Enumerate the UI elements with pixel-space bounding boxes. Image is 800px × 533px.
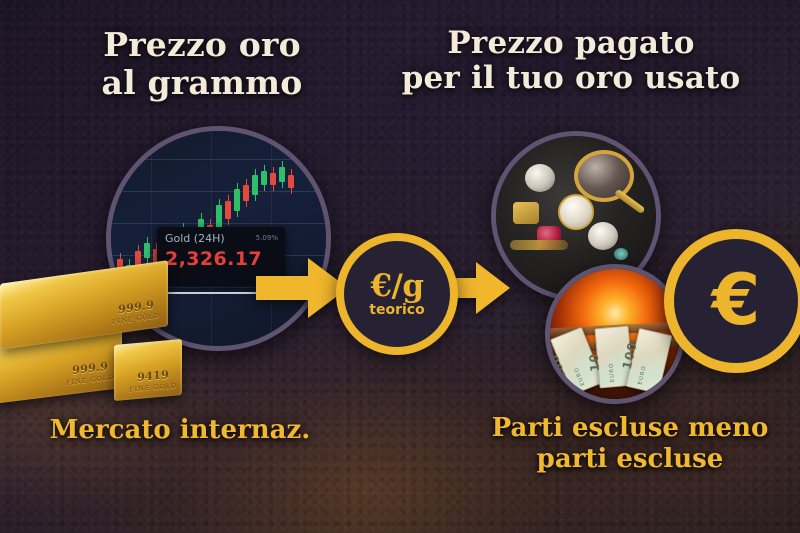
candlestick-up <box>216 205 222 229</box>
banknote-currency: EURO <box>638 365 648 386</box>
gold-hexagon-charm <box>513 202 539 224</box>
theoretical-price-symbol: €/g <box>370 271 423 302</box>
euro-symbol: € <box>712 272 761 329</box>
heading-right-line1: Prezzo pagato <box>447 25 694 61</box>
chart-gridline <box>111 191 326 192</box>
candlestick-wick <box>273 167 274 191</box>
theoretical-price-sublabel: teorico <box>369 303 424 317</box>
gold-bars-photo: 999.9 FINE GOLD 9419 FINE GOLD 999.9 FIN… <box>0 262 192 410</box>
theoretical-price-badge: €/g teorico <box>336 233 458 355</box>
candlestick-dn <box>270 173 276 185</box>
candlestick-up <box>234 189 240 211</box>
gold-bar-stamp: 9419 FINE GOLD <box>129 367 177 393</box>
gold-bar-bottom-right: 9419 FINE GOLD <box>114 339 182 401</box>
candlestick-wick <box>147 237 148 264</box>
candlestick-wick <box>246 179 247 207</box>
candlestick-wick <box>264 165 265 191</box>
ticker-change: 5.09% <box>256 234 278 242</box>
banknote-currency: EURO <box>608 362 616 382</box>
candlestick-dn <box>243 185 249 201</box>
diamond-gem <box>588 222 618 250</box>
candlestick-dn <box>225 201 231 219</box>
candlestick-wick <box>282 161 283 188</box>
teal-gem <box>614 248 628 260</box>
candlestick-wick <box>291 169 292 194</box>
candlestick-wick <box>237 183 238 217</box>
heading-left-line2: al grammo <box>52 64 352 102</box>
gold-chain <box>510 240 568 250</box>
candlestick-up <box>252 175 258 195</box>
footer-right-line1: Parti escluse <box>492 413 679 443</box>
heading-right: Prezzo pagato per il tuo oro usato <box>398 26 744 97</box>
arrow-market-to-theoretical <box>256 252 348 324</box>
heading-right-line2: per il tuo oro usato <box>398 61 744 96</box>
infographic-canvas: 999.9 FINE GOLD 9419 FINE GOLD 999.9 FIN… <box>0 0 800 533</box>
candlestick-dn <box>288 175 294 188</box>
footer-left-line1: Mercato internaz. <box>50 415 311 445</box>
heading-left-line1: Prezzo oro <box>103 25 301 64</box>
candlestick-wick <box>255 169 256 201</box>
euro-payout-badge: € <box>664 229 800 373</box>
pearl-pendant <box>558 194 594 230</box>
candlestick-up <box>144 243 150 258</box>
melting-gold-banknotes-photo: 100 EURO 10 EURO 100 EURO <box>545 264 685 404</box>
gold-bar-top: 999.9 FINE GOLD <box>0 260 168 350</box>
diamond-gem <box>525 164 555 192</box>
banknote-currency: EURO <box>573 366 586 386</box>
candlestick-up <box>279 167 285 182</box>
chart-gridline <box>111 159 326 160</box>
candlestick-up <box>261 171 267 185</box>
footer-right: Parti escluse meno parti escluse <box>470 413 790 475</box>
footer-left: Mercato internaz. <box>30 415 330 446</box>
heading-left: Prezzo oro al grammo <box>52 26 352 101</box>
candlestick-wick <box>228 195 229 225</box>
banknote-denomination: 10 <box>587 352 603 372</box>
